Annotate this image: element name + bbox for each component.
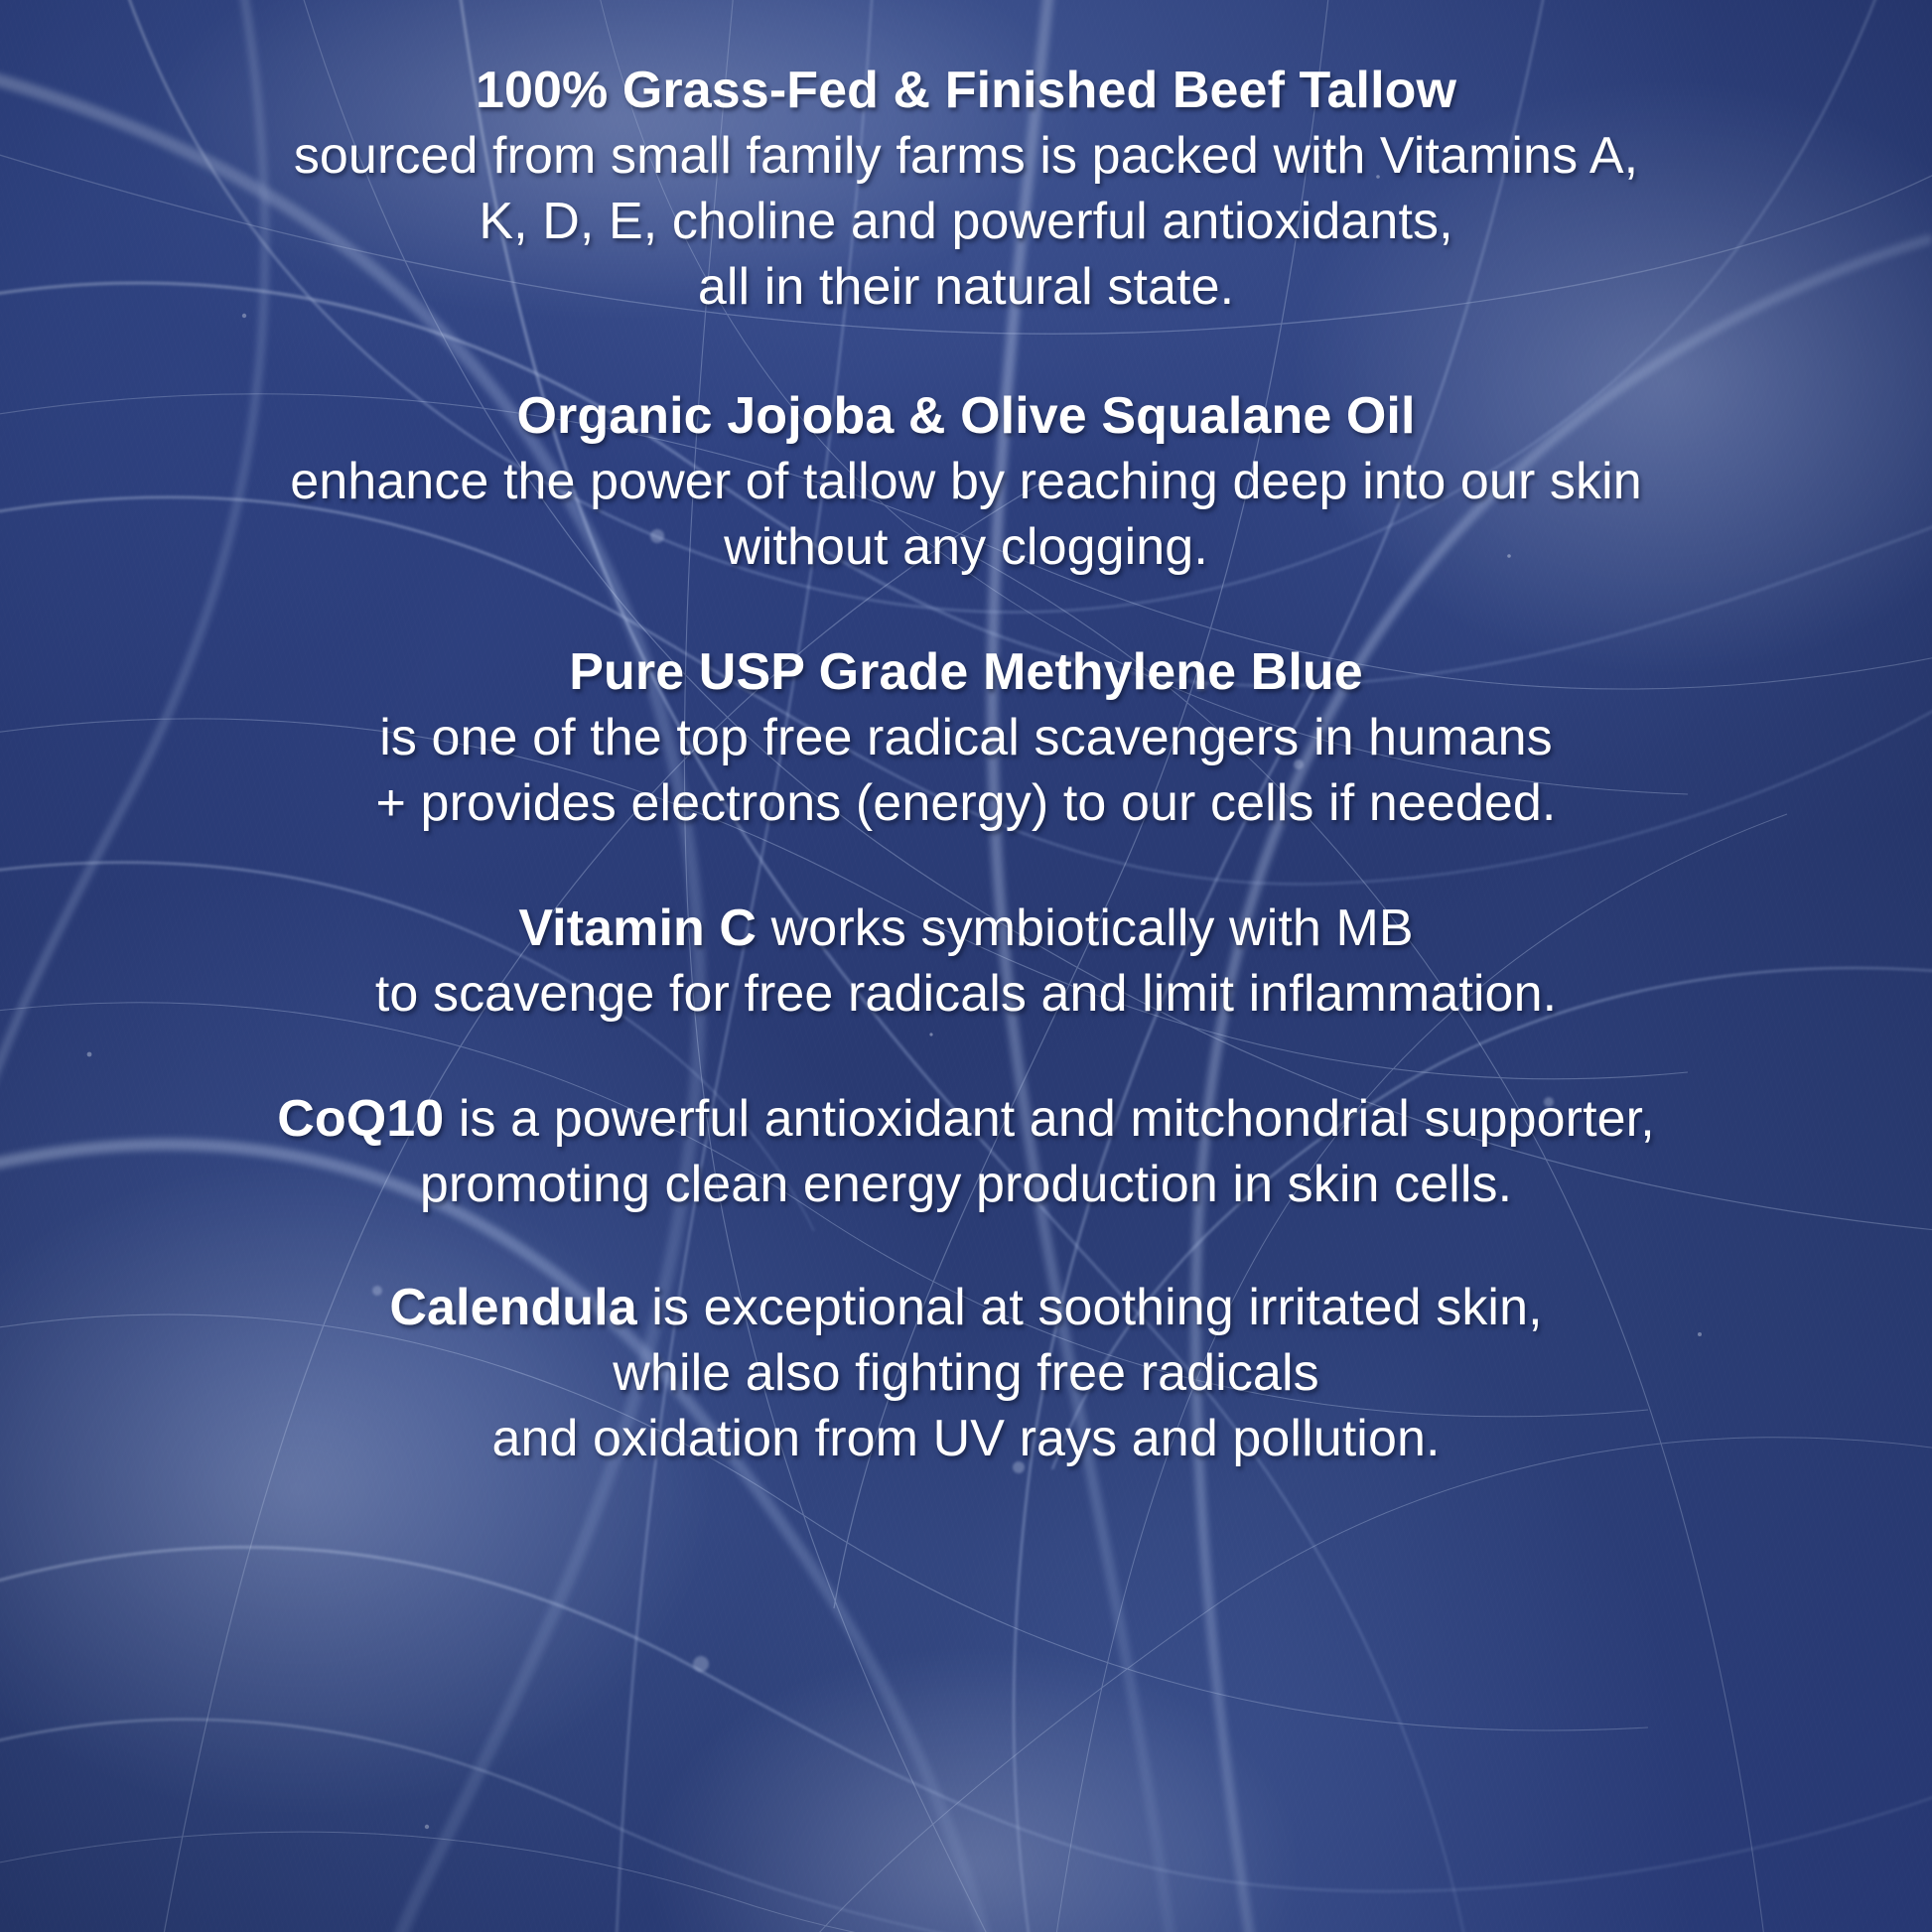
section-jojoba-squalane: Organic Jojoba & Olive Squalane Oil enha… xyxy=(0,383,1932,580)
section-vitamin-c: Vitamin C works symbiotically with MB to… xyxy=(0,896,1932,1027)
ingredient-text-content: 100% Grass-Fed & Finished Beef Tallow so… xyxy=(0,0,1932,1932)
section-heading-calendula: Calendula is exceptional at soothing irr… xyxy=(24,1275,1908,1340)
section-beef-tallow: 100% Grass-Fed & Finished Beef Tallow so… xyxy=(0,58,1932,320)
section-heading-jojoba-squalane: Organic Jojoba & Olive Squalane Oil xyxy=(24,383,1908,449)
section-lead-tail-vitamin-c: works symbiotically with MB xyxy=(757,899,1414,957)
section-line-vitamin-c-1: to scavenge for free radicals and limit … xyxy=(24,961,1908,1027)
section-heading-beef-tallow: 100% Grass-Fed & Finished Beef Tallow xyxy=(24,58,1908,123)
section-calendula: Calendula is exceptional at soothing irr… xyxy=(0,1275,1932,1471)
section-line-beef-tallow-3: all in their natural state. xyxy=(24,254,1908,320)
section-lead-tail-coq10: is a powerful antioxidant and mitchondri… xyxy=(444,1090,1654,1148)
section-coq10: CoQ10 is a powerful antioxidant and mitc… xyxy=(0,1086,1932,1217)
section-line-methylene-blue-2: + provides electrons (energy) to our cel… xyxy=(24,770,1908,836)
section-line-jojoba-squalane-2: without any clogging. xyxy=(24,514,1908,580)
section-line-calendula-2: and oxidation from UV rays and pollution… xyxy=(24,1406,1908,1471)
section-heading-coq10: CoQ10 is a powerful antioxidant and mitc… xyxy=(24,1086,1908,1152)
section-lead-tail-calendula: is exceptional at soothing irritated ski… xyxy=(637,1279,1543,1336)
section-line-calendula-1: while also fighting free radicals xyxy=(24,1340,1908,1406)
section-line-methylene-blue-1: is one of the top free radical scavenger… xyxy=(24,705,1908,770)
section-heading-vitamin-c: Vitamin C works symbiotically with MB xyxy=(24,896,1908,961)
section-line-coq10-1: promoting clean energy production in ski… xyxy=(24,1152,1908,1217)
section-heading-methylene-blue: Pure USP Grade Methylene Blue xyxy=(24,639,1908,705)
section-line-jojoba-squalane-1: enhance the power of tallow by reaching … xyxy=(24,449,1908,514)
section-line-beef-tallow-2: K, D, E, choline and powerful antioxidan… xyxy=(24,189,1908,254)
ingredient-benefits-poster: 100% Grass-Fed & Finished Beef Tallow so… xyxy=(0,0,1932,1932)
section-methylene-blue: Pure USP Grade Methylene Blue is one of … xyxy=(0,639,1932,836)
section-line-beef-tallow-1: sourced from small family farms is packe… xyxy=(24,123,1908,189)
